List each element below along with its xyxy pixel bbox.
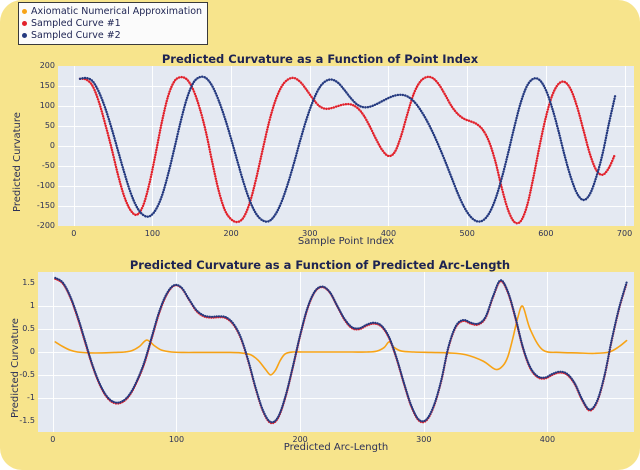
legend-label: Axiomatic Numerical Approximation: [31, 6, 202, 17]
legend-item: Sampled Curve #2: [22, 29, 202, 41]
chart-2-x-axis-label: Predicted Arc-Length: [38, 442, 634, 453]
legend-item: Axiomatic Numerical Approximation: [22, 5, 202, 17]
legend-item: Sampled Curve #1: [22, 17, 202, 29]
y-tick-label: 1: [4, 301, 35, 310]
legend-marker-icon: [22, 21, 27, 26]
legend: Axiomatic Numerical Approximation Sample…: [18, 2, 208, 45]
chart-2-y-axis-label: Predicted Curvature: [10, 318, 21, 418]
series-path: [55, 278, 626, 422]
legend-marker-icon: [22, 33, 27, 38]
legend-marker-icon: [22, 9, 27, 14]
series-path: [55, 279, 626, 423]
legend-label: Sampled Curve #1: [31, 18, 121, 29]
chart-2-curves: [0, 0, 640, 470]
legend-label: Sampled Curve #2: [31, 30, 121, 41]
y-tick-label: 1.5: [4, 278, 35, 287]
figure-canvas: Axiomatic Numerical Approximation Sample…: [0, 0, 640, 470]
series-path: [55, 306, 626, 375]
